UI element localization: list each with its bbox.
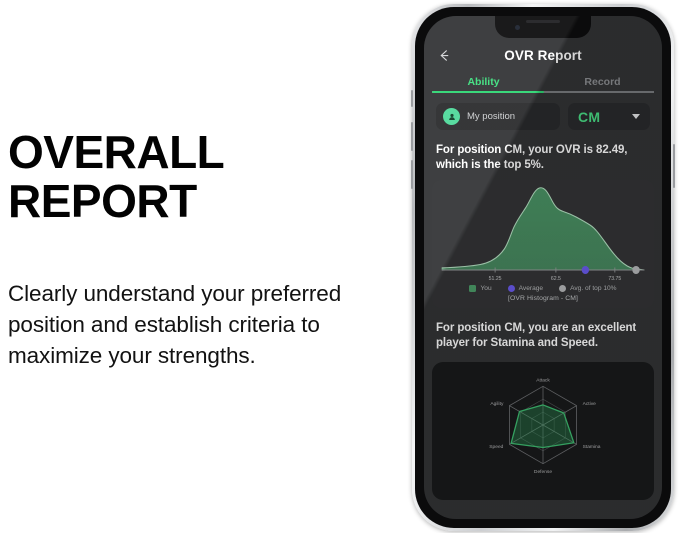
average-marker bbox=[582, 266, 589, 274]
radar-headline: For position CM, you are an excellent pl… bbox=[424, 308, 662, 358]
x-tick-label: 62.5 bbox=[551, 276, 561, 282]
legend-item-you: You bbox=[469, 285, 491, 292]
radar-label-speed: Speed bbox=[489, 444, 503, 450]
position-value: CM bbox=[578, 109, 600, 125]
ovr-histogram-chart: 51.25 62.5 73.75 bbox=[438, 184, 648, 282]
radar-card: Attack Active Stamina Defense Speed Agil… bbox=[432, 362, 654, 500]
phone-mockup: OVR Report Ability Record bbox=[412, 4, 674, 531]
power-button[interactable] bbox=[673, 144, 675, 188]
tab-bar: Ability Record bbox=[424, 76, 662, 93]
x-tick-label: 51.25 bbox=[489, 276, 502, 282]
histogram-legend: You Average Avg. of top 10% bbox=[438, 285, 648, 292]
earpiece-speaker bbox=[526, 20, 560, 23]
phone-screen: OVR Report Ability Record bbox=[424, 16, 662, 519]
promo-block: OVERALL REPORT Clearly understand your p… bbox=[8, 128, 400, 371]
position-dropdown[interactable]: CM bbox=[568, 103, 650, 130]
legend-label-average: Average bbox=[519, 285, 543, 292]
back-arrow-icon[interactable] bbox=[436, 47, 452, 63]
legend-swatch-top10 bbox=[559, 285, 566, 292]
app-bar: OVR Report bbox=[424, 40, 662, 70]
position-selector-row: My position CM bbox=[424, 93, 662, 130]
my-position-label: My position bbox=[467, 111, 515, 122]
volume-down-button[interactable] bbox=[411, 160, 413, 189]
legend-label-you: You bbox=[480, 285, 491, 292]
top10-marker bbox=[632, 266, 639, 274]
page-title: OVERALL REPORT bbox=[8, 128, 400, 226]
app-title: OVR Report bbox=[424, 48, 662, 63]
ability-radar-chart: Attack Active Stamina Defense Speed Agil… bbox=[438, 368, 648, 482]
app-content: OVR Report Ability Record bbox=[424, 16, 662, 519]
volume-up-button[interactable] bbox=[411, 122, 413, 151]
phone-bezel: OVR Report Ability Record bbox=[415, 7, 671, 528]
chevron-down-icon bbox=[632, 114, 640, 119]
radar-label-stamina: Stamina bbox=[583, 444, 601, 450]
radar-label-attack: Attack bbox=[536, 378, 550, 384]
histogram-caption: [OVR Histogram - CM] bbox=[438, 295, 648, 302]
histogram-headline: For position CM, your OVR is 82.49, whic… bbox=[424, 130, 662, 180]
front-camera-icon bbox=[515, 25, 520, 30]
tab-active-indicator bbox=[432, 91, 544, 94]
legend-swatch-average bbox=[508, 285, 515, 292]
legend-item-top10: Avg. of top 10% bbox=[559, 285, 616, 292]
radar-label-active: Active bbox=[583, 401, 597, 407]
silent-switch[interactable] bbox=[411, 90, 413, 107]
notch bbox=[495, 16, 591, 38]
x-tick-label: 73.75 bbox=[608, 276, 621, 282]
promo-subtitle: Clearly understand your preferred positi… bbox=[8, 278, 400, 371]
legend-swatch-you bbox=[469, 285, 476, 292]
legend-item-average: Average bbox=[508, 285, 543, 292]
radar-label-defense: Defense bbox=[534, 469, 552, 475]
person-position-icon bbox=[443, 108, 460, 125]
radar-label-agility: Agility bbox=[490, 401, 504, 407]
my-position-chip[interactable]: My position bbox=[436, 103, 560, 130]
legend-label-top10: Avg. of top 10% bbox=[570, 285, 616, 292]
histogram-card: 51.25 62.5 73.75 You bbox=[432, 180, 654, 308]
